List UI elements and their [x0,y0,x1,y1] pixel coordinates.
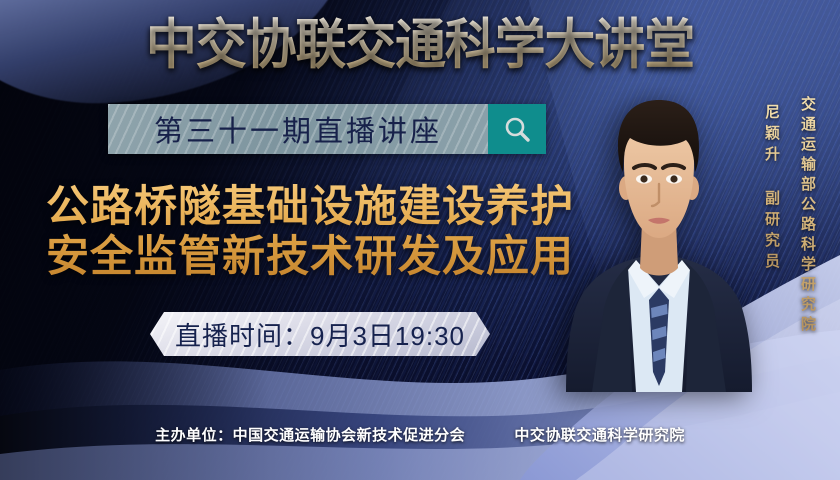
lecture-topic-line-1: 公路桥隧基础设施建设养护 [30,182,590,232]
episode-banner: 第三十一期直播讲座 [108,104,546,154]
speaker-portrait [566,72,752,392]
broadcast-time-label: 直播时间：9月3日19:30 [175,316,465,353]
search-button[interactable] [488,104,546,154]
lecture-topic: 公路桥隧基础设施建设养护 安全监管新技术研发及应用 [30,182,590,282]
episode-banner-body: 第三十一期直播讲座 [108,104,488,154]
live-lecture-poster: 交通运输部公路科学研究院 尼颖升 副研究员 中交协联交通科学大讲堂 第三十一期直… [0,0,840,480]
footer-institute: 中交协联交通科学研究院 [514,427,685,444]
footer-organizers: 主办单位：中国交通运输协会新技术促进分会 中交协联交通科学研究院 [0,424,840,445]
footer-organizer: 主办单位：中国交通运输协会新技术促进分会 [155,427,465,444]
speaker-organization: 交通运输部公路科学研究院 [797,96,818,336]
episode-label: 第三十一期直播讲座 [154,108,442,150]
page-title: 中交协联交通科学大讲堂 [25,12,815,78]
speaker-name-title: 尼颖升 副研究员 [761,104,782,274]
search-icon [502,114,532,144]
lecture-topic-line-2: 安全监管新技术研发及应用 [30,232,590,282]
broadcast-time-badge: 直播时间：9月3日19:30 [150,312,490,356]
